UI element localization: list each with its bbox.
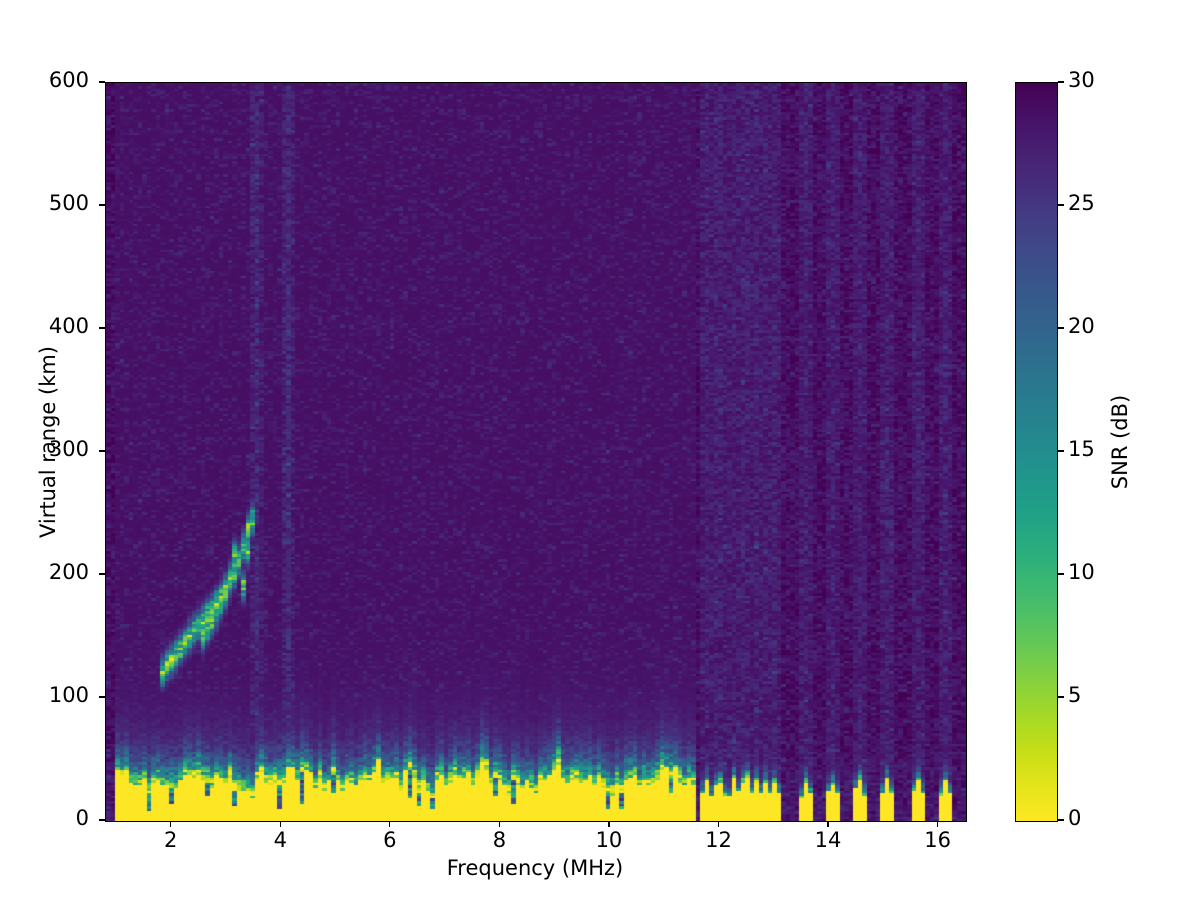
y-tick-mark	[99, 81, 105, 82]
colorbar-tick-label: 25	[1068, 191, 1095, 215]
y-tick-label: 0	[9, 806, 89, 830]
x-axis-label: Frequency (MHz)	[105, 856, 965, 880]
colorbar-gradient	[1016, 83, 1057, 821]
x-tick-mark	[608, 821, 609, 827]
ionogram-plot-area[interactable]	[105, 82, 967, 822]
x-tick-mark	[827, 821, 828, 827]
y-tick-mark	[99, 573, 105, 574]
colorbar-tick-mark	[1058, 204, 1064, 205]
x-tick-mark	[170, 821, 171, 827]
colorbar-tick-mark	[1058, 573, 1064, 574]
colorbar-tick-mark	[1058, 81, 1064, 82]
y-tick-label: 100	[9, 683, 89, 707]
y-tick-mark	[99, 819, 105, 820]
y-tick-label: 400	[9, 314, 89, 338]
x-tick-label: 12	[679, 828, 759, 852]
y-tick-label: 300	[9, 437, 89, 461]
x-tick-label: 2	[131, 828, 211, 852]
ionogram-heatmap	[106, 83, 966, 821]
colorbar-tick-mark	[1058, 327, 1064, 328]
x-tick-mark	[389, 821, 390, 827]
y-tick-mark	[99, 327, 105, 328]
colorbar-tick-label: 30	[1068, 68, 1095, 92]
x-tick-label: 4	[240, 828, 320, 852]
x-tick-label: 8	[459, 828, 539, 852]
colorbar-tick-mark	[1058, 819, 1064, 820]
colorbar-tick-mark	[1058, 696, 1064, 697]
colorbar[interactable]	[1015, 82, 1058, 822]
x-tick-mark	[499, 821, 500, 827]
y-tick-label: 600	[9, 68, 89, 92]
y-tick-label: 200	[9, 560, 89, 584]
colorbar-tick-label: 20	[1068, 314, 1095, 338]
x-tick-label: 14	[788, 828, 868, 852]
x-tick-mark	[718, 821, 719, 827]
colorbar-label: SNR (dB)	[1108, 322, 1132, 562]
colorbar-tick-label: 5	[1068, 683, 1081, 707]
colorbar-tick-label: 10	[1068, 560, 1095, 584]
y-tick-mark	[99, 450, 105, 451]
y-tick-mark	[99, 696, 105, 697]
x-tick-label: 10	[569, 828, 649, 852]
y-tick-mark	[99, 204, 105, 205]
x-tick-label: 16	[898, 828, 978, 852]
x-tick-mark	[937, 821, 938, 827]
colorbar-tick-label: 15	[1068, 437, 1095, 461]
x-tick-label: 6	[350, 828, 430, 852]
y-tick-label: 500	[9, 191, 89, 215]
ionogram-figure: IRF Kiruna Ionosonde KI167 2025-12-04 01…	[0, 0, 1200, 900]
x-tick-mark	[280, 821, 281, 827]
colorbar-tick-mark	[1058, 450, 1064, 451]
colorbar-tick-label: 0	[1068, 806, 1081, 830]
